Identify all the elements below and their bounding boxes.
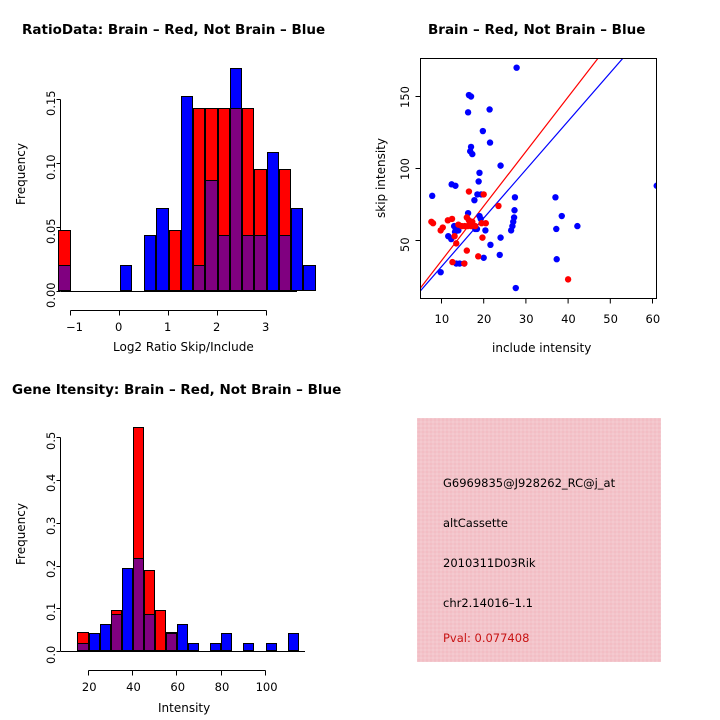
scatter-xtick-4: 50 (603, 312, 618, 326)
scatter-point-not-brain-45 (554, 256, 560, 262)
scatter-point-not-brain-9 (469, 151, 475, 157)
scatter-point-brain-21 (479, 234, 485, 240)
ratio-bar-overlap-7 (205, 180, 217, 291)
ratio-bar-blue-12 (267, 152, 279, 292)
scatter-point-brain-4 (430, 220, 436, 226)
ratio-xtick-4: 3 (262, 320, 269, 334)
ratio-xtick-2: 1 (164, 320, 171, 334)
ratio-bar-blue-2 (144, 235, 156, 291)
scatter-point-brain-1 (481, 191, 487, 197)
gene-bar-blue-15 (288, 633, 299, 651)
intensity-scatter-panel: Brain – Red, Not Brain – Blue skip inten… (360, 0, 720, 360)
scatter-point-not-brain-39 (487, 242, 493, 248)
scatter-point-not-brain-21 (471, 197, 477, 203)
ratio-bar-overlap-0 (58, 265, 70, 292)
scatter-line-brain-fit (420, 53, 601, 288)
scatter-point-not-brain-5 (480, 128, 486, 134)
scatter-point-group (428, 65, 660, 292)
scatter-xtick-1: 20 (477, 312, 492, 326)
scatter-point-not-brain-12 (475, 178, 481, 184)
scatter-line-not-brain-fit (420, 53, 627, 291)
scatter-point-brain-23 (464, 247, 470, 253)
scatter-point-brain-24 (475, 253, 481, 259)
scatter-point-brain-22 (453, 240, 459, 246)
scatter-point-not-brain-50 (513, 285, 519, 291)
scatter-point-brain-18 (483, 220, 489, 226)
scatter-point-not-brain-29 (508, 227, 514, 233)
scatter-point-not-brain-15 (429, 193, 435, 199)
gene-ytick-3: 0.3 (44, 517, 58, 535)
scatter-point-not-brain-3 (465, 109, 471, 115)
gene-xtick-2: 60 (170, 680, 185, 694)
ratio-bar-blue-5 (181, 96, 193, 292)
gene-ytick-0: 0.0 (44, 645, 58, 663)
ratio-ytick-2: 0.10 (44, 154, 58, 180)
gene-bar-blue-13 (243, 643, 254, 652)
scatter-point-not-brain-38 (497, 234, 503, 240)
ratio-bar-red-4 (169, 230, 181, 291)
scatter-point-not-brain-14 (452, 183, 458, 189)
gene-axes (0, 360, 360, 720)
scatter-point-not-brain-42 (553, 226, 559, 232)
scatter-ytick-0: 50 (398, 237, 412, 252)
gene-xtick-3: 80 (215, 680, 230, 694)
gene-bar-overlap-8 (166, 633, 177, 651)
scatter-point-not-brain-11 (476, 170, 482, 176)
scatter-point-brain-27 (565, 276, 571, 282)
gene-xtick-4: 100 (256, 680, 278, 694)
gene-xtick-0: 20 (82, 680, 97, 694)
ratio-ytick-3: 0.15 (44, 90, 58, 116)
ratio-bar-overlap-9 (230, 108, 242, 291)
scatter-point-brain-2 (495, 203, 501, 209)
gene-bar-blue-1 (89, 633, 100, 651)
ratio-xtick-0: −1 (66, 320, 83, 334)
probe-info-panel: G6969835@J928262_RC@j_at altCassette 201… (360, 360, 720, 720)
ratio-bar-blue-3 (156, 208, 168, 291)
probe-info-box: G6969835@J928262_RC@j_at altCassette 201… (417, 418, 661, 662)
scatter-point-not-brain-17 (552, 194, 558, 200)
ratio-bar-blue-1 (120, 265, 132, 292)
scatter-point-not-brain-44 (574, 223, 580, 229)
scatter-point-not-brain-2 (468, 93, 474, 99)
scatter-point-not-brain-43 (559, 213, 565, 219)
ratio-histogram-panel: RatioData: Brain – Red, Not Brain – Blue… (0, 0, 360, 360)
gene-bar-blue-14 (266, 643, 277, 652)
scatter-point-not-brain-25 (511, 207, 517, 213)
gene-ytick-5: 0.5 (44, 431, 58, 449)
gene-ytick-2: 0.2 (44, 560, 58, 578)
ratio-bar-overlap-8 (218, 235, 230, 291)
ratio-xtick-1: 0 (115, 320, 122, 334)
ratio-bar-overlap-13 (279, 235, 291, 291)
scatter-point-not-brain-40 (497, 252, 503, 258)
scatter-point-not-brain-4 (486, 106, 492, 112)
scatter-point-brain-16 (472, 223, 478, 229)
gene-xtick-1: 40 (126, 680, 141, 694)
gene-ytick-1: 0.1 (44, 602, 58, 620)
pval-text: Pval: 0.077408 (443, 631, 529, 645)
scatter-plot-area: 50100150 102030405060 (360, 0, 720, 360)
gene-bar-overlap-5 (133, 558, 144, 651)
scatter-point-not-brain-0 (513, 65, 519, 71)
gene-bar-red-7 (155, 610, 166, 651)
scatter-canvas (360, 0, 720, 360)
gene-bar-blue-2 (100, 624, 111, 652)
scatter-point-not-brain-41 (481, 255, 487, 261)
scatter-point-brain-25 (449, 259, 455, 265)
scatter-point-not-brain-16 (512, 194, 518, 200)
scatter-point-brain-0 (466, 188, 472, 194)
gene-bar-overlap-3 (111, 614, 122, 651)
scatter-tick-marks (416, 97, 653, 304)
ratio-bar-overlap-10 (242, 235, 254, 291)
ratio-bar-blue-14 (291, 208, 303, 291)
gene-bar-blue-10 (188, 643, 199, 652)
scatter-ytick-2: 150 (398, 86, 412, 108)
ratio-bar-overlap-6 (193, 265, 205, 292)
scatter-point-brain-9 (445, 217, 451, 223)
scatter-xtick-5: 60 (646, 312, 661, 326)
scatter-ytick-1: 100 (398, 158, 412, 180)
scatter-point-brain-20 (451, 233, 457, 239)
ratio-bar-blue-15 (303, 265, 315, 292)
scatter-xtick-3: 40 (561, 312, 576, 326)
gene-intensity-panel: Gene Itensity: Brain – Red, Not Brain – … (0, 360, 360, 720)
gene-bar-blue-11 (210, 643, 221, 652)
scatter-point-brain-19 (437, 227, 443, 233)
gene-ytick-4: 0.4 (44, 474, 58, 492)
scatter-point-brain-26 (461, 260, 467, 266)
gene-symbol-text: 2010311D03Rik (443, 556, 536, 570)
gene-bar-blue-4 (122, 568, 133, 651)
gene-bar-overlap-0 (77, 643, 88, 652)
gene-bar-blue-9 (177, 624, 188, 652)
locus-text: chr2.14016–1.1 (443, 596, 533, 610)
ratio-ytick-0: 0.00 (44, 282, 58, 308)
gene-bar-blue-12 (221, 633, 232, 651)
scatter-xtick-0: 10 (435, 312, 450, 326)
probe-id-text: G6969835@J928262_RC@j_at (443, 476, 615, 490)
scatter-xtick-2: 30 (519, 312, 534, 326)
scatter-point-not-brain-49 (437, 269, 443, 275)
ratio-plot-area: 0.000.050.100.15 −10123 (0, 0, 360, 360)
gene-plot-area: 0.00.10.20.30.40.5 20406080100 (0, 360, 360, 720)
ratio-xtick-3: 2 (213, 320, 220, 334)
gene-bar-overlap-6 (144, 614, 155, 651)
ratio-bar-overlap-11 (254, 235, 266, 291)
scatter-point-not-brain-6 (487, 139, 493, 145)
scatter-fit-lines (420, 53, 627, 291)
scatter-point-not-brain-51 (482, 227, 488, 233)
ratio-ytick-1: 0.05 (44, 218, 58, 244)
scatter-point-not-brain-10 (497, 162, 503, 168)
event-type-text: altCassette (443, 516, 508, 530)
